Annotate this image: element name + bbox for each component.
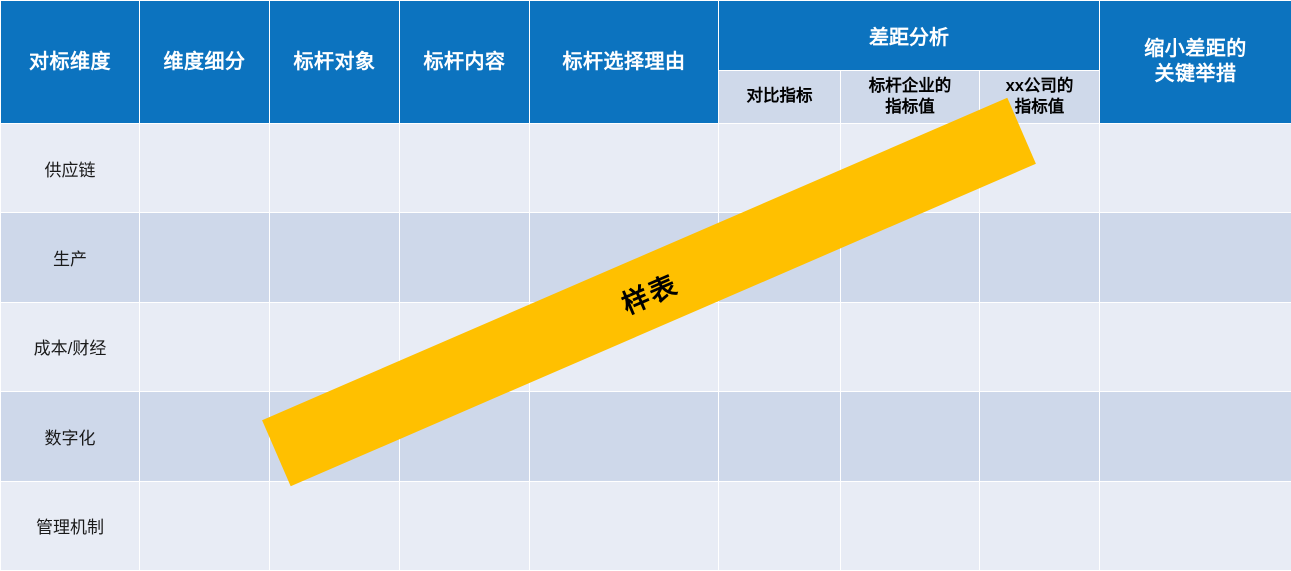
cell-dimension: 成本/财经 [1,302,140,391]
cell-sub-dimension[interactable] [140,213,270,302]
column-header-benchmark-value: 标杆企业的 指标值 [841,71,980,124]
cell-benchmark-content[interactable] [400,302,530,391]
column-header-company-value-line2: 指标值 [1015,98,1065,116]
cell-company-value[interactable] [980,124,1100,213]
cell-compare-metric[interactable] [719,213,841,302]
cell-dimension: 管理机制 [1,481,140,570]
column-header-key-measures-line2: 关键举措 [1155,63,1237,85]
cell-compare-metric[interactable] [719,392,841,481]
column-header-compare-metric: 对比指标 [719,71,841,124]
cell-company-value[interactable] [980,481,1100,570]
cell-dimension: 生产 [1,213,140,302]
cell-company-value[interactable] [980,392,1100,481]
benchmark-table-page: 对标维度 维度细分 标杆对象 标杆内容 标杆选择理由 差距分析 缩小差距的 关键… [0,0,1291,571]
column-header-dimension: 对标维度 [1,1,140,124]
cell-dimension: 数字化 [1,392,140,481]
cell-key-measures[interactable] [1100,213,1291,302]
cell-benchmark-target[interactable] [270,481,400,570]
table-row: 生产 [1,213,1291,302]
table-row: 管理机制 [1,481,1291,570]
cell-key-measures[interactable] [1100,302,1291,391]
cell-benchmark-content[interactable] [400,124,530,213]
cell-benchmark-value[interactable] [841,302,980,391]
cell-compare-metric[interactable] [719,124,841,213]
cell-sub-dimension[interactable] [140,392,270,481]
cell-selection-reason[interactable] [530,302,719,391]
column-header-sub-dimension: 维度细分 [140,1,270,124]
cell-company-value[interactable] [980,302,1100,391]
table-row: 供应链 [1,124,1291,213]
column-header-company-value: xx公司的 指标值 [980,71,1100,124]
cell-selection-reason[interactable] [530,124,719,213]
cell-sub-dimension[interactable] [140,124,270,213]
cell-sub-dimension[interactable] [140,302,270,391]
cell-selection-reason[interactable] [530,392,719,481]
table-header: 对标维度 维度细分 标杆对象 标杆内容 标杆选择理由 差距分析 缩小差距的 关键… [1,1,1291,124]
header-row-primary: 对标维度 维度细分 标杆对象 标杆内容 标杆选择理由 差距分析 缩小差距的 关键… [1,1,1291,71]
benchmark-comparison-table: 对标维度 维度细分 标杆对象 标杆内容 标杆选择理由 差距分析 缩小差距的 关键… [0,0,1291,571]
cell-key-measures[interactable] [1100,392,1291,481]
table-row: 数字化 [1,392,1291,481]
cell-benchmark-value[interactable] [841,392,980,481]
cell-compare-metric[interactable] [719,481,841,570]
cell-benchmark-content[interactable] [400,481,530,570]
table-row: 成本/财经 [1,302,1291,391]
cell-benchmark-target[interactable] [270,302,400,391]
cell-compare-metric[interactable] [719,302,841,391]
cell-company-value[interactable] [980,213,1100,302]
cell-benchmark-value[interactable] [841,481,980,570]
cell-benchmark-target[interactable] [270,392,400,481]
cell-selection-reason[interactable] [530,213,719,302]
cell-key-measures[interactable] [1100,124,1291,213]
cell-benchmark-content[interactable] [400,392,530,481]
column-header-key-measures-line1: 缩小差距的 [1144,38,1247,60]
column-header-benchmark-value-line2: 指标值 [885,98,935,116]
column-header-benchmark-content: 标杆内容 [400,1,530,124]
cell-sub-dimension[interactable] [140,481,270,570]
column-header-key-measures: 缩小差距的 关键举措 [1100,1,1291,124]
cell-dimension: 供应链 [1,124,140,213]
cell-benchmark-value[interactable] [841,213,980,302]
table-body: 供应链 生产 成本/财经 [1,124,1291,571]
cell-key-measures[interactable] [1100,481,1291,570]
column-header-benchmark-target: 标杆对象 [270,1,400,124]
cell-benchmark-value[interactable] [841,124,980,213]
column-header-selection-reason: 标杆选择理由 [530,1,719,124]
cell-benchmark-target[interactable] [270,213,400,302]
column-group-header-gap-analysis: 差距分析 [719,1,1100,71]
cell-benchmark-target[interactable] [270,124,400,213]
column-header-company-value-line1: xx公司的 [1006,77,1074,95]
column-header-benchmark-value-line1: 标杆企业的 [869,77,952,95]
cell-benchmark-content[interactable] [400,213,530,302]
cell-selection-reason[interactable] [530,481,719,570]
